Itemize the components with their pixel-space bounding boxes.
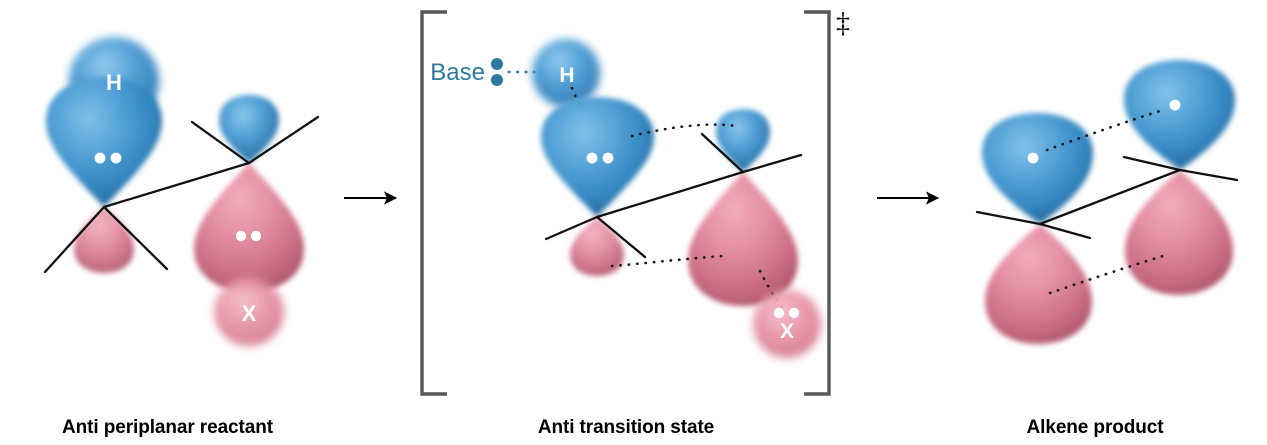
caption-reactant: Anti periplanar reactant <box>0 417 335 439</box>
diagram-canvas: H X ‡ Base <box>0 0 1267 445</box>
reaction-arrow-2 <box>877 193 938 204</box>
reaction-arrow-1 <box>344 193 396 204</box>
panel-transition-state: Anti transition state <box>420 0 832 445</box>
panel-reactant: Anti periplanar reactant <box>0 0 335 445</box>
panel-product: Alkene product <box>950 0 1240 445</box>
caption-product: Alkene product <box>950 417 1240 439</box>
double-dagger-symbol: ‡ <box>836 8 850 39</box>
caption-transition-state: Anti transition state <box>420 417 832 439</box>
